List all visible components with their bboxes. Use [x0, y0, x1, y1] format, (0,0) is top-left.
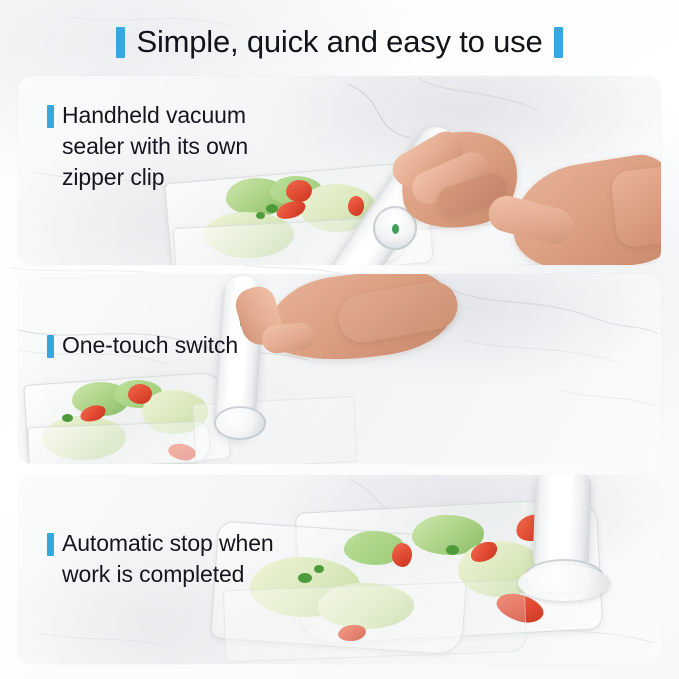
title-accent-bar-left	[116, 27, 125, 58]
feature-panel-one-touch-switch: One-touch switch	[18, 274, 661, 464]
title-accent-bar-right	[554, 27, 563, 58]
caption-3-accent-bar	[47, 533, 54, 556]
salad-herb-1	[266, 204, 278, 213]
salad-herb-1b	[256, 212, 265, 219]
feature-panel-handheld-sealer: Handheld vacuum sealer with its own zipp…	[18, 76, 661, 265]
cherry-tomato-2a	[128, 384, 152, 404]
infographic-page: Simple, quick and easy to use	[0, 0, 679, 679]
cherry-tomato-1c	[348, 196, 364, 216]
right-forearm-1	[610, 164, 661, 248]
bag-sheet-3	[223, 580, 527, 662]
cherry-tomato-3c	[392, 543, 412, 567]
caption-1-accent-bar	[47, 105, 54, 128]
salad-herb-3a	[446, 545, 459, 555]
sealer-base-2	[214, 406, 266, 440]
sealer-indicator-1	[392, 224, 399, 234]
salad-herb-3c	[314, 565, 324, 573]
salad-herb-2	[62, 414, 73, 422]
panel-3-caption: Automatic stop when work is completed	[47, 528, 274, 590]
panel-2-photo	[18, 274, 661, 464]
caption-2-accent-bar	[47, 335, 54, 358]
salad-herb-3b	[298, 573, 312, 583]
panel-2-caption: One-touch switch	[47, 330, 238, 361]
page-title-row: Simple, quick and easy to use	[0, 18, 679, 66]
air-valve-3	[518, 565, 610, 601]
panel-1-caption: Handheld vacuum sealer with its own zipp…	[47, 100, 248, 193]
page-title: Simple, quick and easy to use	[136, 25, 542, 59]
cherry-tomato-1a	[286, 180, 312, 202]
feature-panel-automatic-stop: Automatic stop when work is completed	[18, 475, 661, 664]
bag-film-flap-2	[27, 421, 210, 464]
caption-2-text: One-touch switch	[62, 330, 238, 361]
caption-3-text: Automatic stop when work is completed	[62, 528, 274, 590]
caption-1-text: Handheld vacuum sealer with its own zipp…	[62, 100, 248, 193]
